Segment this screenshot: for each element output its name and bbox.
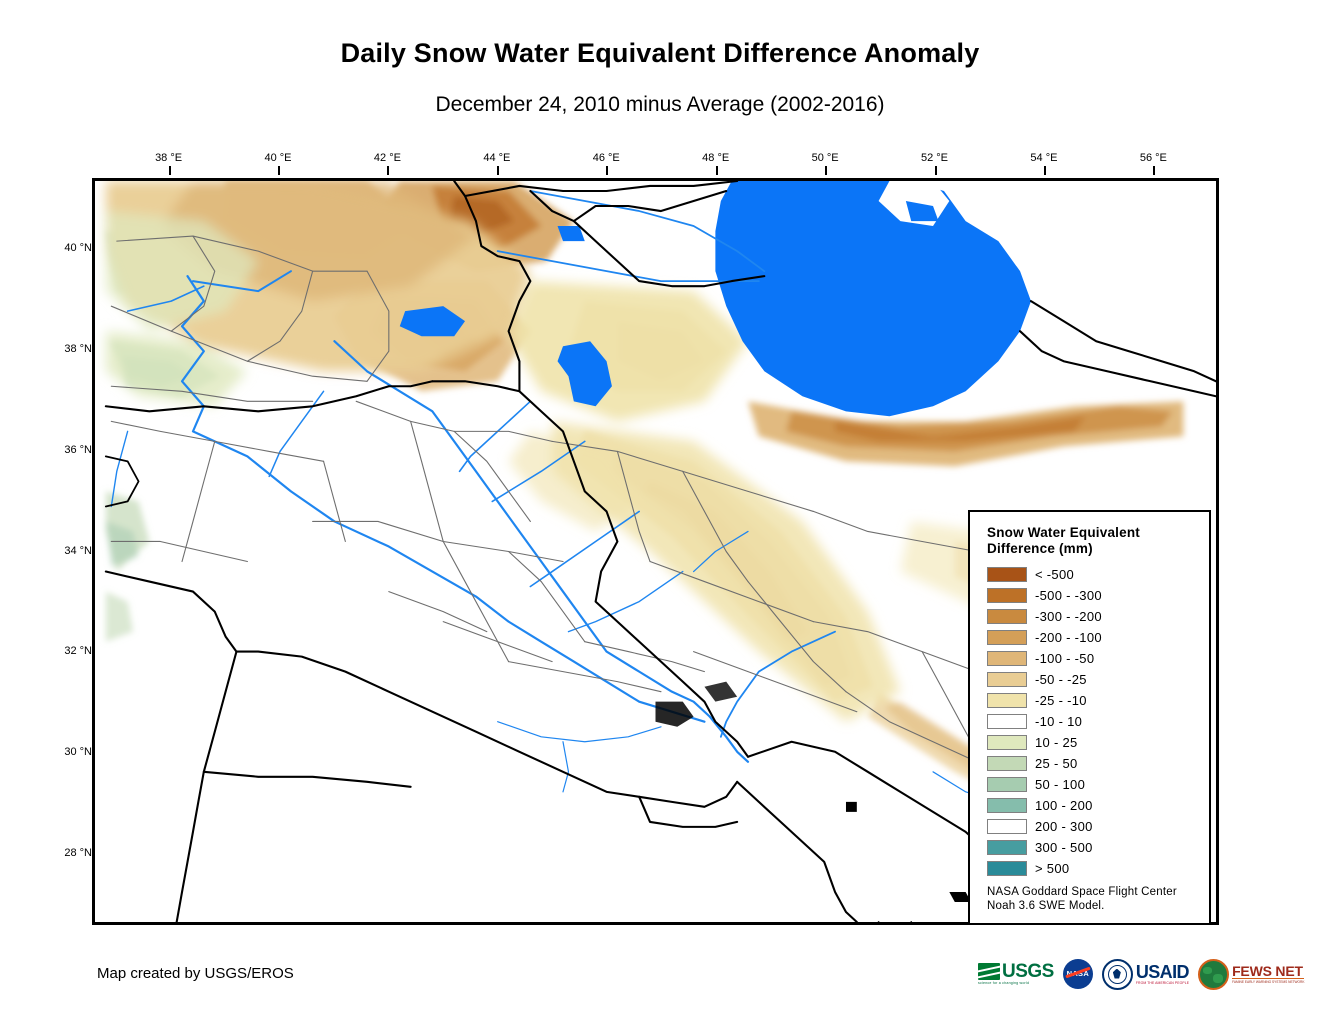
lat-tick-label: 32 °N	[40, 645, 92, 657]
page-title: Daily Snow Water Equivalent Difference A…	[0, 38, 1320, 69]
lon-tick-mark	[1044, 166, 1046, 175]
legend-row: 50 - 100	[987, 774, 1209, 795]
legend-swatch	[987, 630, 1027, 645]
legend-swatch	[987, 735, 1027, 750]
usaid-logo: USAID FROM THE AMERICAN PEOPLE	[1102, 959, 1189, 990]
map-line	[1020, 331, 1216, 396]
map-line	[710, 717, 748, 762]
fewsnet-logo-text: FEWS NET	[1232, 964, 1304, 979]
legend-label: -100 - -50	[1035, 651, 1094, 666]
legend-class-list: < -500-500 - -300-300 - -200-200 - -100-…	[987, 564, 1209, 879]
map-line	[177, 652, 237, 922]
map-line	[454, 431, 530, 521]
usaid-logo-text: USAID	[1136, 964, 1189, 981]
map-line	[1031, 301, 1216, 381]
legend-label: 50 - 100	[1035, 777, 1085, 792]
legend-row: 10 - 25	[987, 732, 1209, 753]
legend-row: 100 - 200	[987, 795, 1209, 816]
lat-tick-label: 36 °N	[40, 444, 92, 456]
legend-row: 200 - 300	[987, 816, 1209, 837]
legend-swatch	[987, 819, 1027, 834]
legend-label: 200 - 300	[1035, 819, 1093, 834]
map-line	[182, 441, 215, 561]
legend-title: Snow Water Equivalent Difference (mm)	[987, 525, 1209, 557]
legend-label: -25 - -10	[1035, 693, 1087, 708]
legend-row: -25 - -10	[987, 690, 1209, 711]
legend-swatch	[987, 651, 1027, 666]
usgs-logo-subtext: science for a changing world	[978, 981, 1029, 985]
lon-tick-label: 50 °E	[795, 152, 855, 164]
legend-swatch	[987, 588, 1027, 603]
page-subtitle: December 24, 2010 minus Average (2002-20…	[0, 93, 1320, 117]
legend-swatch	[987, 840, 1027, 855]
map-line	[574, 191, 726, 221]
legend-row: < -500	[987, 564, 1209, 585]
lon-tick-label: 48 °E	[686, 152, 746, 164]
map-line	[563, 742, 568, 792]
legend-source-line2: Noah 3.6 SWE Model.	[987, 899, 1177, 913]
legend-label: -50 - -25	[1035, 672, 1087, 687]
map-line	[443, 622, 552, 662]
map-line	[324, 461, 346, 541]
lon-tick-label: 52 °E	[905, 152, 965, 164]
legend-label: -300 - -200	[1035, 609, 1102, 624]
lat-tick-label: 38 °N	[40, 343, 92, 355]
lon-tick-mark	[387, 166, 389, 175]
map-line	[111, 431, 127, 506]
legend-label: > 500	[1035, 861, 1069, 876]
legend-row: > 500	[987, 858, 1209, 879]
lon-tick-mark	[1153, 166, 1155, 175]
mesopotamian-marshes	[704, 682, 737, 702]
globe-icon	[1198, 959, 1229, 990]
lat-tick-label: 34 °N	[40, 545, 92, 557]
lat-tick-label: 40 °N	[40, 242, 92, 254]
legend-row: -300 - -200	[987, 606, 1209, 627]
usgs-logo: USGS science for a changing world	[978, 963, 1054, 985]
legend-swatch	[987, 609, 1027, 624]
map-line	[411, 421, 444, 541]
mesopotamian-marshes	[656, 702, 694, 727]
map-credit: Map created by USGS/EROS	[97, 965, 294, 982]
map-line	[443, 541, 508, 661]
lon-tick-label: 54 °E	[1014, 152, 1074, 164]
lon-tick-label: 42 °E	[357, 152, 417, 164]
lat-tick-label: 28 °N	[40, 847, 92, 859]
map-line	[498, 722, 661, 742]
lon-tick-mark	[497, 166, 499, 175]
lon-tick-mark	[169, 166, 171, 175]
legend-label: < -500	[1035, 567, 1074, 582]
legend-row: 300 - 500	[987, 837, 1209, 858]
legend-title-line2: Difference (mm)	[987, 541, 1093, 556]
lon-tick-label: 40 °E	[248, 152, 308, 164]
map-line	[639, 797, 737, 827]
usgs-logo-text: USGS	[1002, 963, 1054, 980]
nasa-logo: NASA	[1063, 959, 1093, 989]
fewsnet-logo: FEWS NET FAMINE EARLY WARNING SYSTEMS NE…	[1198, 959, 1304, 990]
legend-swatch	[987, 567, 1027, 582]
legend-swatch	[987, 777, 1027, 792]
fewsnet-logo-subtext: FAMINE EARLY WARNING SYSTEMS NETWORK	[1232, 980, 1304, 984]
anomaly-patch	[509, 281, 748, 421]
usaid-seal-icon	[1102, 959, 1133, 990]
legend-label: 25 - 50	[1035, 756, 1078, 771]
legend-swatch	[987, 714, 1027, 729]
legend-row: -10 - 10	[987, 711, 1209, 732]
map-line	[204, 772, 411, 787]
agency-logos: USGS science for a changing world NASA U…	[978, 955, 1304, 993]
lon-tick-mark	[716, 166, 718, 175]
legend-source-line1: NASA Goddard Space Flight Center	[987, 885, 1177, 899]
map-line	[106, 572, 737, 807]
lon-tick-mark	[935, 166, 937, 175]
lon-tick-mark	[825, 166, 827, 175]
legend-row: 25 - 50	[987, 753, 1209, 774]
map-legend: Snow Water Equivalent Difference (mm) < …	[968, 510, 1211, 925]
map-line	[111, 421, 323, 461]
map-line	[737, 782, 857, 922]
legend-row: -500 - -300	[987, 585, 1209, 606]
usgs-mark-icon	[978, 963, 1000, 980]
usaid-logo-subtext: FROM THE AMERICAN PEOPLE	[1136, 981, 1189, 985]
legend-label: -200 - -100	[1035, 630, 1102, 645]
legend-row: -100 - -50	[987, 648, 1209, 669]
caspian-sea	[715, 181, 1031, 416]
map-line	[509, 662, 661, 692]
lon-tick-mark	[606, 166, 608, 175]
legend-label: 300 - 500	[1035, 840, 1093, 855]
lon-tick-mark	[278, 166, 280, 175]
legend-swatch	[987, 861, 1027, 876]
legend-label: 10 - 25	[1035, 735, 1078, 750]
lon-tick-label: 44 °E	[467, 152, 527, 164]
legend-title-line1: Snow Water Equivalent	[987, 525, 1140, 540]
lon-tick-label: 38 °E	[139, 152, 199, 164]
legend-swatch	[987, 693, 1027, 708]
lon-tick-label: 56 °E	[1123, 152, 1183, 164]
legend-label: 100 - 200	[1035, 798, 1093, 813]
legend-source: NASA Goddard Space Flight Center Noah 3.…	[987, 885, 1177, 913]
legend-row: -200 - -100	[987, 627, 1209, 648]
gulf-island	[846, 802, 857, 812]
map-line	[389, 592, 487, 632]
legend-swatch	[987, 672, 1027, 687]
legend-swatch	[987, 756, 1027, 771]
anomaly-patch	[106, 592, 133, 642]
legend-label: -10 - 10	[1035, 714, 1082, 729]
legend-label: -500 - -300	[1035, 588, 1102, 603]
lat-tick-label: 30 °N	[40, 746, 92, 758]
map-line	[269, 391, 323, 476]
lon-tick-label: 46 °E	[576, 152, 636, 164]
legend-swatch	[987, 798, 1027, 813]
legend-row: -50 - -25	[987, 669, 1209, 690]
